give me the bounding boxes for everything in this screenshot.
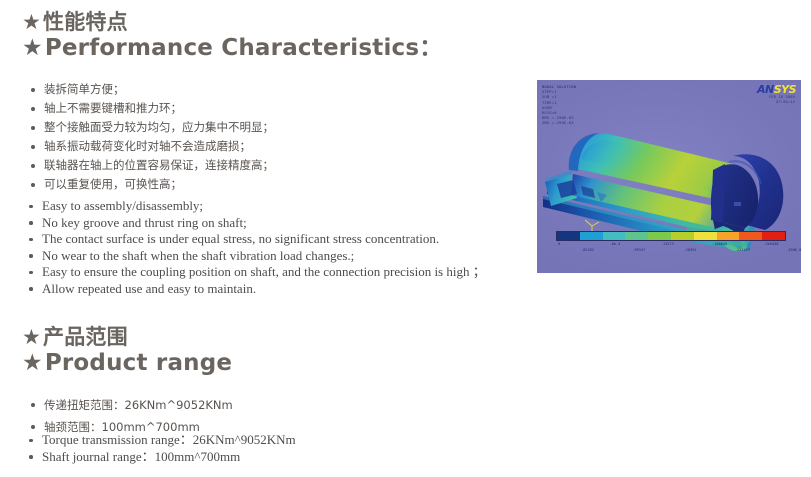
- colorbar-tick-label: .8e-4: [610, 242, 621, 246]
- list-item: 传递扭矩范围：26KNm^9052KNm: [30, 394, 370, 416]
- performance-heading-cn-text: 性能特点: [43, 10, 128, 34]
- product-range-heading-cn: ★产品范围: [22, 325, 232, 350]
- list-item: 可以重复使用，可换性高；: [30, 175, 330, 194]
- contour-colorbar: 0.8e-4.13273.188845.2e5438 .82182.99347.…: [556, 231, 784, 255]
- colorbar-segment: [739, 232, 762, 240]
- colorbar-strip: [556, 231, 786, 241]
- product-range-heading-block: ★产品范围 ★Product range: [22, 325, 232, 377]
- list-item: 轴系振动载荷变化时对轴不会造成磨损；: [30, 137, 330, 156]
- colorbar-segment: [557, 232, 580, 240]
- performance-heading-cn: ★性能特点: [22, 10, 442, 35]
- colorbar-tick-label: 0: [558, 242, 560, 246]
- product-range-heading-cn-text: 产品范围: [43, 325, 128, 349]
- list-item: 联轴器在轴上的位置容易保证，连接精度高；: [30, 156, 330, 175]
- performance-heading-block: ★性能特点 ★Performance Characteristics：: [22, 10, 442, 62]
- colorbar-labels: 0.8e-4.13273.188845.2e5438 .82182.99347.…: [556, 241, 784, 255]
- list-item: 装拆简单方便；: [30, 80, 330, 99]
- colorbar-segment: [580, 232, 603, 240]
- list-item: Easy to ensure the coupling position on …: [28, 264, 508, 281]
- ansys-fea-figure: NODAL SOLUTION STEP=1 SUB =1 TIME=1 USUM…: [537, 80, 801, 273]
- colorbar-tick-label: .232277: [735, 248, 750, 252]
- performance-heading-en-text: Performance Characteristics：: [45, 35, 443, 61]
- list-item: No key groove and thrust ring on shaft;: [28, 215, 508, 232]
- colorbar-tick-label: .13273: [661, 242, 674, 246]
- star-icon: ★: [22, 325, 41, 350]
- list-item: Torque transmission range：26KNm^9052KNm: [28, 432, 388, 449]
- list-item: Easy to assembly/disassembly;: [28, 198, 508, 215]
- colorbar-tick-label: .99347: [632, 248, 645, 252]
- list-item: 轴上不需要键槽和推力环；: [30, 99, 330, 118]
- colorbar-tick-label: .290E-03: [786, 248, 801, 252]
- star-icon: ★: [22, 350, 43, 377]
- list-item: Allow repeated use and easy to maintain.: [28, 281, 508, 298]
- stamp-line: FEB 18 2009: [769, 95, 795, 100]
- product-range-bullets-en: Torque transmission range：26KNm^9052KNm …: [28, 432, 388, 465]
- colorbar-segment: [648, 232, 671, 240]
- product-range-heading-en-text: Product range: [45, 350, 232, 376]
- stamp-line: 07:00:44: [769, 100, 795, 105]
- performance-bullets-cn: 装拆简单方便； 轴上不需要键槽和推力环； 整个接触面受力较为均匀，应力集中不明显…: [30, 80, 330, 194]
- performance-bullets-en: Easy to assembly/disassembly; No key gro…: [28, 198, 508, 297]
- list-item: 整个接触面受力较为均匀，应力集中不明显；: [30, 118, 330, 137]
- ansys-timestamp: FEB 18 2009 07:00:44: [769, 95, 795, 104]
- header-line: SMX =.290E-03: [542, 120, 576, 125]
- colorbar-tick-label: .82182: [581, 248, 594, 252]
- colorbar-tick-label: .16391: [684, 248, 697, 252]
- colorbar-labels-lower: .82182.99347.16391.232277.290E-03: [556, 248, 784, 254]
- colorbar-segment: [694, 232, 717, 240]
- colorbar-tick-label: .188845: [712, 242, 727, 246]
- list-item: Shaft journal range：100mm^700mm: [28, 449, 388, 466]
- star-icon: ★: [22, 35, 43, 62]
- performance-heading-en: ★Performance Characteristics：: [22, 35, 442, 62]
- ansys-solution-header: NODAL SOLUTION STEP=1 SUB =1 TIME=1 USUM…: [542, 84, 576, 126]
- product-range-heading-en: ★Product range: [22, 350, 232, 377]
- list-item: No wear to the shaft when the shaft vibr…: [28, 248, 508, 265]
- colorbar-segment: [671, 232, 694, 240]
- colorbar-tick-label: .2e5438: [763, 242, 778, 246]
- star-icon: ★: [22, 10, 41, 35]
- colorbar-segment: [762, 232, 785, 240]
- colorbar-segment: [625, 232, 648, 240]
- colorbar-segment: [717, 232, 740, 240]
- colorbar-segment: [603, 232, 626, 240]
- list-item: The contact surface is under equal stres…: [28, 231, 508, 248]
